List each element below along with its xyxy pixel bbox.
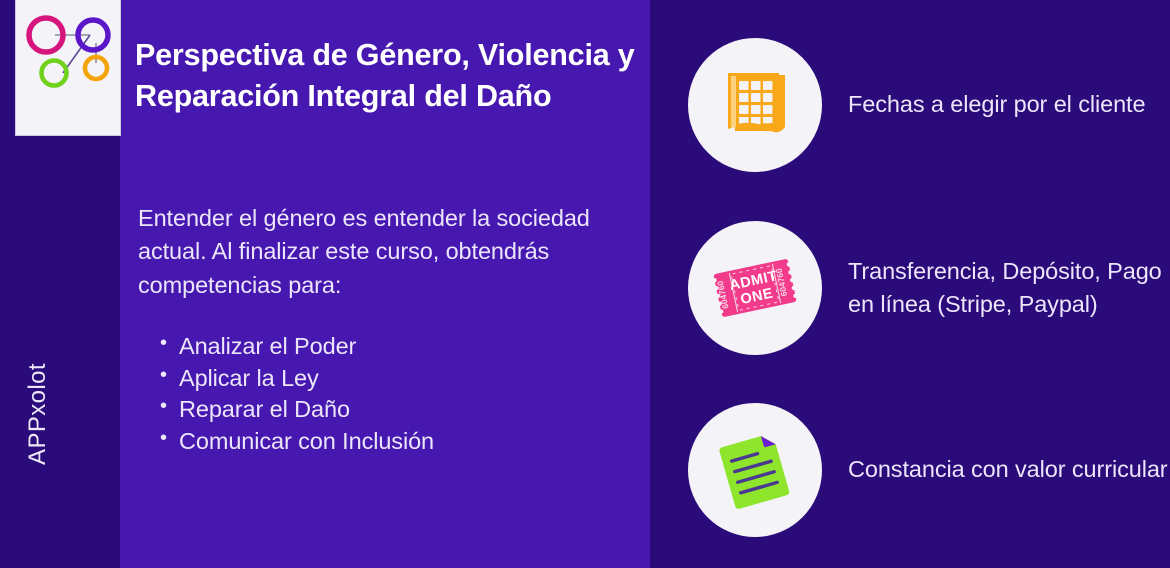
calendar-icon: [688, 38, 822, 172]
page-title: Perspectiva de Género, Violencia y Repar…: [135, 35, 635, 118]
feature-row: 604760 604760 ADMIT ONE Transferencia, D…: [688, 221, 1170, 355]
list-item-label: Analizar el Poder: [179, 333, 356, 359]
list-item: Aplicar la Ley: [158, 363, 628, 395]
slide-canvas: Perspectiva de Género, Violencia y Repar…: [0, 0, 1170, 568]
center-panel: Perspectiva de Género, Violencia y Repar…: [120, 0, 650, 568]
competency-list: Analizar el Poder Aplicar la Ley Reparar…: [158, 331, 628, 457]
document-icon: [688, 403, 822, 537]
list-item: Analizar el Poder: [158, 331, 628, 363]
feature-row: Constancia con valor curricular: [688, 403, 1170, 537]
feature-label: Constancia con valor curricular: [848, 453, 1168, 486]
list-item: Reparar el Daño: [158, 394, 628, 426]
list-item: Comunicar con Inclusión: [158, 426, 628, 458]
list-item-label: Aplicar la Ley: [179, 365, 319, 391]
features-column: Fechas a elegir por el cliente: [650, 0, 1170, 568]
list-item-label: Reparar el Daño: [179, 396, 350, 422]
feature-label: Fechas a elegir por el cliente: [848, 88, 1145, 121]
brand-name-vertical: APPxolot: [24, 344, 52, 484]
ticket-icon: 604760 604760 ADMIT ONE: [688, 221, 822, 355]
list-item-label: Comunicar con Inclusión: [179, 428, 434, 454]
logo-card: [15, 0, 121, 136]
body-paragraph: Entender el género es entender la socied…: [138, 202, 618, 302]
feature-label: Transferencia, Depósito, Pago en línea (…: [848, 255, 1170, 322]
feature-row: Fechas a elegir por el cliente: [688, 38, 1170, 172]
four-connected-circles-logo-icon: [22, 5, 116, 100]
